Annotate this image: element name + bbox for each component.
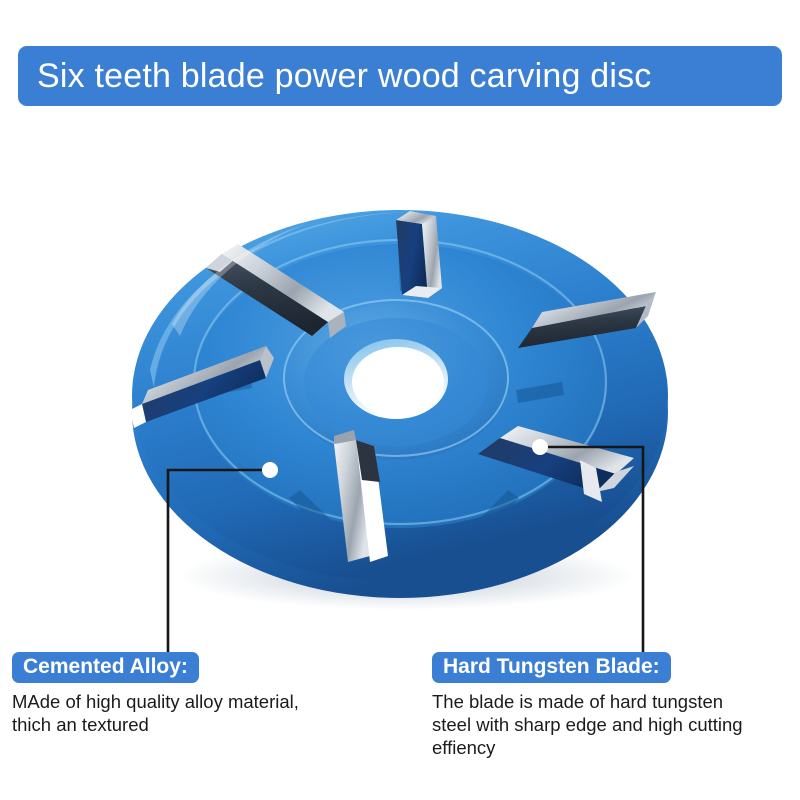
page-title: Six teeth blade power wood carving disc <box>18 57 651 96</box>
arbor-bore-hole <box>352 347 444 417</box>
product-image-wood-carving-disc <box>110 160 690 620</box>
callout-body-line: thich an textured <box>12 713 412 736</box>
callout-cemented-alloy: Cemented Alloy: MAde of high quality all… <box>12 652 412 736</box>
carbide-tooth-top <box>396 211 442 298</box>
callout-badge-hard-tungsten-blade: Hard Tungsten Blade: <box>432 652 671 683</box>
callout-badge-cemented-alloy: Cemented Alloy: <box>12 652 199 683</box>
callout-body-line: effiency <box>432 736 792 759</box>
callout-hard-tungsten-blade: Hard Tungsten Blade: The blade is made o… <box>432 652 792 759</box>
callout-body-hard-tungsten-blade: The blade is made of hard tungsten steel… <box>432 690 792 759</box>
callout-body-line: steel with sharp edge and high cutting <box>432 713 792 736</box>
callout-body-line: The blade is made of hard tungsten <box>432 690 792 713</box>
callout-body-line: MAde of high quality alloy material, <box>12 690 412 713</box>
title-banner: Six teeth blade power wood carving disc <box>18 46 782 106</box>
callout-body-cemented-alloy: MAde of high quality alloy material, thi… <box>12 690 412 736</box>
